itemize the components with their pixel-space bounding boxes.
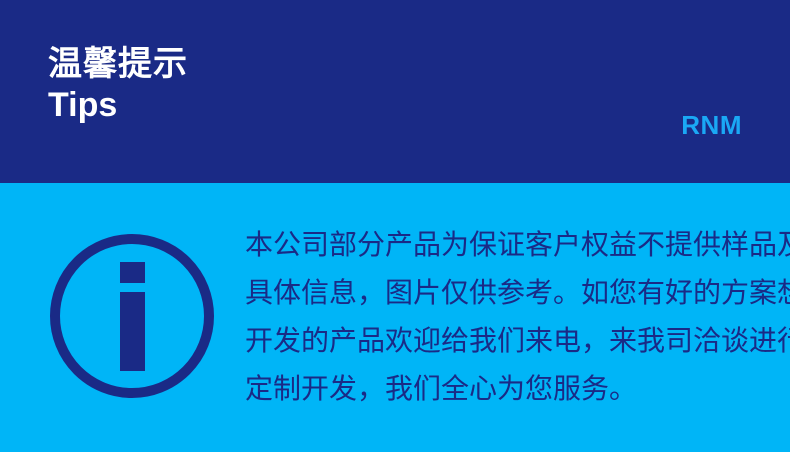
info-icon-stem	[120, 292, 145, 371]
notice-line: 具体信息，图片仅供参考。如您有好的方案想	[245, 269, 745, 317]
brand-logo: RNM	[681, 110, 742, 141]
notice-line: 定制开发，我们全心为您服务。	[245, 365, 745, 413]
banner-title-cn: 温馨提示	[48, 44, 188, 84]
tips-banner: 温馨提示 Tips RNM 本公司部分产品为保证客户权益不提供样品及 具体信息，…	[0, 0, 790, 452]
notice-line: 开发的产品欢迎给我们来电，来我司洽谈进行	[245, 317, 745, 365]
banner-body: 本公司部分产品为保证客户权益不提供样品及 具体信息，图片仅供参考。如您有好的方案…	[0, 183, 790, 452]
banner-title-en: Tips	[48, 84, 188, 126]
banner-header: 温馨提示 Tips RNM	[0, 0, 790, 183]
title-block: 温馨提示 Tips	[48, 44, 188, 126]
info-icon-glyph	[50, 234, 214, 398]
notice-text-block: 本公司部分产品为保证客户权益不提供样品及 具体信息，图片仅供参考。如您有好的方案…	[245, 221, 745, 413]
info-icon-dot	[120, 262, 145, 283]
info-icon	[50, 234, 214, 398]
notice-line: 本公司部分产品为保证客户权益不提供样品及	[245, 221, 745, 269]
